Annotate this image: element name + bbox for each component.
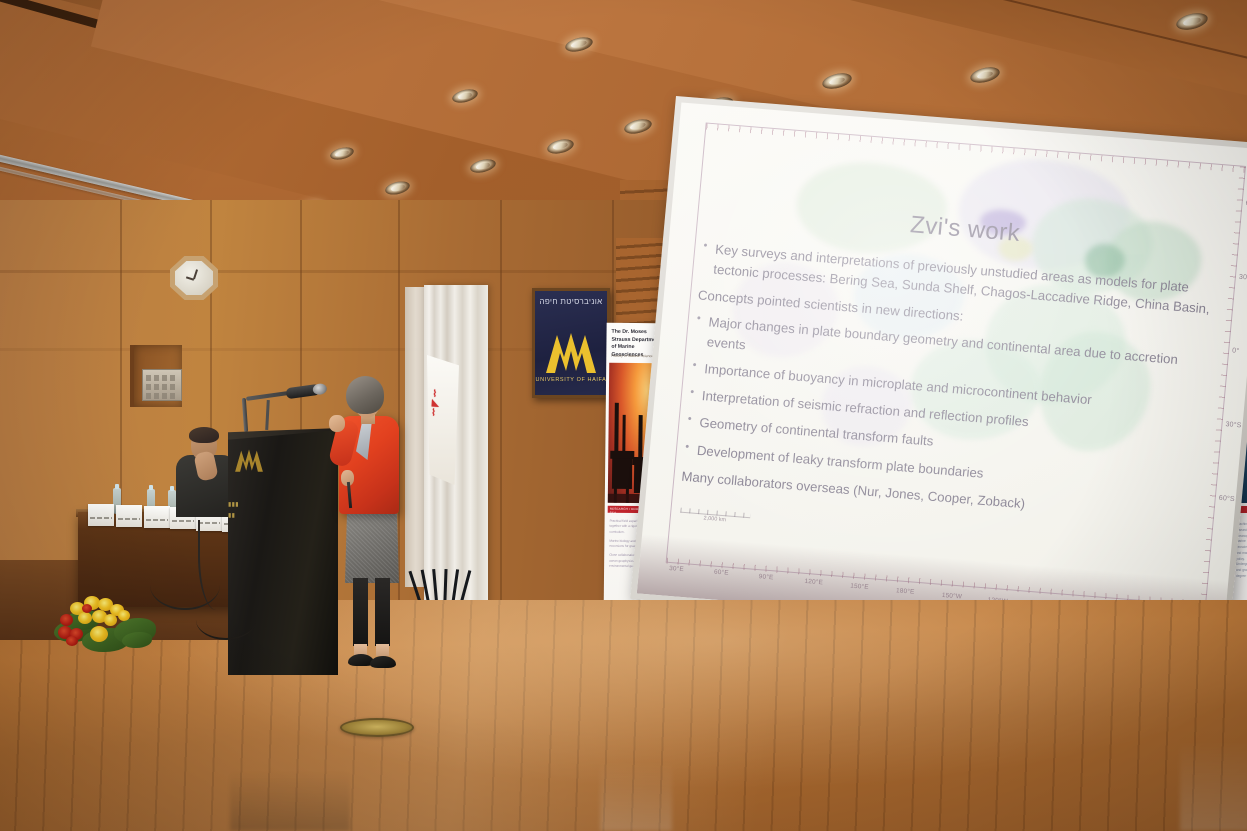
speaker-skirt <box>345 505 399 583</box>
projected-slide: 60°N 30°N 0° 30°S 60°S 30°E 60°E 90°E 12… <box>637 102 1247 640</box>
octagonal-wall-clock <box>170 256 218 300</box>
lon-label: 180°E <box>896 587 915 595</box>
auditorium-photograph: אוניברסיטת חיפה UNIVERSITY OF HAIFA ⌇◣⌇ … <box>0 0 1247 831</box>
lon-label: 90°E <box>758 573 773 581</box>
name-card <box>88 504 114 526</box>
lon-label: 120°E <box>804 578 823 586</box>
name-card <box>116 505 142 527</box>
floor-power-socket <box>340 718 414 737</box>
projection-screen: 60°N 30°N 0° 30°S 60°S 30°E 60°E 90°E 12… <box>629 96 1247 662</box>
lon-label: 30°E <box>669 565 684 573</box>
flower-arrangement <box>52 592 164 662</box>
speaker-ankle-right <box>376 644 389 656</box>
slide-body: Key surveys and interpretations of previ… <box>681 239 1222 528</box>
speaker-leg-left <box>353 578 368 646</box>
banner-right-body-line: Undergraduate and graduate degree tracks… <box>1236 562 1247 579</box>
university-of-haifa-poster: אוניברסיטת חיפה UNIVERSITY OF HAIFA <box>532 288 610 398</box>
university-of-haifa-logo-icon <box>544 327 598 373</box>
wall-cupboard[interactable] <box>130 345 182 407</box>
poster-english-text: UNIVERSITY OF HAIFA <box>535 377 607 383</box>
lat-label: 30°N <box>1239 274 1247 282</box>
panelist-1-hair <box>189 427 219 443</box>
speaker-gesturing-hand <box>329 415 345 432</box>
speaker-leg-right <box>375 578 390 646</box>
speaker-shoe-right <box>370 656 396 668</box>
podium-university-logo-icon <box>234 446 264 472</box>
lon-label: 60°E <box>714 569 729 577</box>
lat-label: 60°S <box>1218 495 1235 503</box>
lat-label: 30°S <box>1225 421 1242 429</box>
poster-hebrew-text: אוניברסיטת חיפה <box>535 297 607 306</box>
lat-label: 0° <box>1232 347 1240 355</box>
podium-engraved-text: ▮▮▮▮▮ <box>228 500 248 523</box>
speaker-hair <box>346 376 384 414</box>
lon-label: 150°E <box>850 583 869 591</box>
control-panel[interactable] <box>142 369 182 401</box>
ceiling-downlight <box>1175 10 1210 32</box>
name-card <box>144 506 170 528</box>
